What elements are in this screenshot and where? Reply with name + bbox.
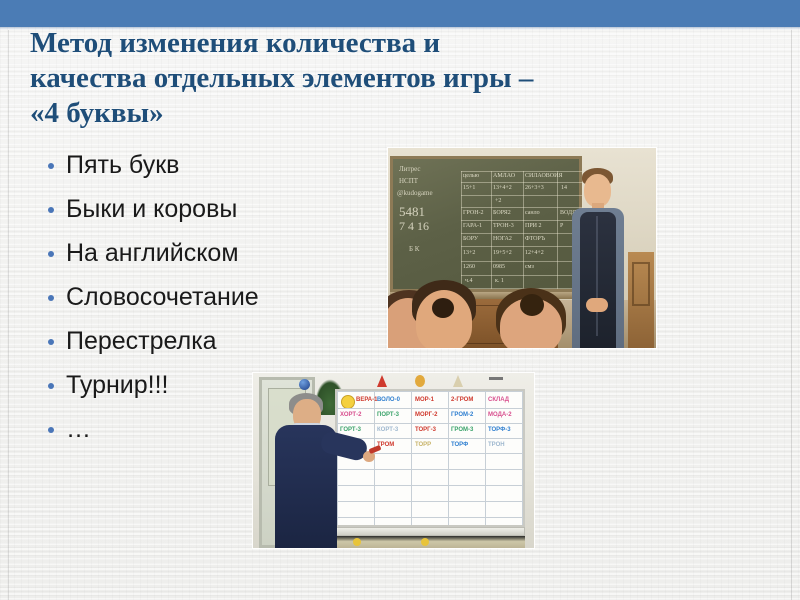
slide-title: Метод изменения количества и качества от… (30, 26, 760, 131)
yellow-dot-icon (421, 538, 429, 546)
wall-strip (335, 536, 525, 548)
list-item: Перестрелка (44, 319, 374, 363)
student-hair-bun (520, 294, 544, 316)
whiteboard-cell: ХОРТ-2 (340, 412, 361, 419)
whiteboard-marker-tray (335, 527, 525, 536)
blackboard: Литрес НСПТ @kudogame 5481 7 4 16 Б К (390, 156, 582, 292)
yellow-dot-icon (353, 538, 361, 546)
classroom-chair (628, 252, 654, 348)
teacher-vest (580, 212, 616, 348)
list-item: Пять букв (44, 143, 374, 187)
slide-title-line-1: Метод изменения количества и (30, 26, 760, 61)
blackboard-cell: БОРЯ2 (493, 210, 511, 217)
whiteboard-cell: МОДА-2 (488, 412, 512, 419)
blackboard-cell: 15+1 (463, 185, 475, 192)
whiteboard-cell: ТОРГ-3 (415, 427, 436, 434)
whiteboard-cell: ТРОН (488, 442, 505, 449)
whiteboard-cell: КОРТ-3 (377, 427, 398, 434)
blackboard-cell: ч.4 (465, 278, 473, 285)
slide-title-line-2: качества отдельных элементов игры – (30, 61, 760, 96)
frame-line-left (8, 30, 9, 600)
accent-top-bar (0, 0, 800, 27)
blackboard-header-cell: целью (463, 173, 479, 180)
blackboard-cell: ГРОН-2 (463, 210, 484, 217)
blackboard-header-cell: СИЛАОВОИЯ (525, 173, 562, 180)
whiteboard-cell: ГРОМ-2 (451, 412, 473, 419)
whiteboard-cell: МОРГ-2 (415, 412, 437, 419)
whiteboard-tournament-photo: ВЕРА-1 ВОЛО-0 МОР-1 2-ГРОМ СКЛАД ХОРТ-2 … (253, 373, 534, 548)
blackboard-note: Б К (409, 245, 419, 254)
whiteboard-cell: ТОРФ-3 (488, 427, 511, 434)
classroom-scene: Литрес НСПТ @kudogame 5481 7 4 16 Б К (388, 148, 656, 348)
blackboard-cell: к. 1 (495, 278, 504, 285)
blackboard-note: 5481 (399, 207, 425, 216)
presentation-slide: Метод изменения количества и качества от… (0, 0, 800, 600)
blackboard-cell: +2 (495, 198, 501, 205)
blackboard-cell: санло (525, 210, 540, 217)
frame-line-right (791, 30, 792, 600)
whiteboard-cell: ГОРТ-3 (340, 427, 361, 434)
blackboard-cell: ФТОРЪ (525, 236, 545, 243)
blackboard-cell: 1260 (463, 264, 475, 271)
teacher-hands (586, 298, 608, 312)
blackboard-cell: ГАРА-1 (463, 223, 482, 230)
student-hair-bun (432, 298, 454, 318)
whiteboard-cell: ТОРФ (451, 442, 468, 449)
blackboard-cell: 26+3+3 (525, 185, 544, 192)
blackboard-table: целью АМЛАО СИЛАОВОИЯ 15+1 13+4+2 26+3+3… (461, 171, 583, 289)
holiday-garland (371, 375, 521, 389)
classroom-blackboard-photo: Литрес НСПТ @kudogame 5481 7 4 16 Б К (388, 148, 656, 348)
blackboard-cell: Р (560, 223, 563, 230)
blackboard-cell: 14 (561, 185, 567, 192)
list-item: Быки и коровы (44, 187, 374, 231)
blackboard-note: 7 4 16 (399, 222, 429, 231)
slide-title-line-3: «4 буквы» (30, 96, 760, 131)
blackboard-note: @kudogame (397, 189, 433, 198)
blackboard-cell: 13+4+2 (493, 185, 512, 192)
whiteboard-cell: МОР-1 (415, 397, 434, 404)
blackboard-cell: БОРУ (463, 236, 478, 243)
blackboard-cell: НОГА2 (493, 236, 512, 243)
blue-ball-decoration (299, 379, 310, 390)
whiteboard-cell: ВЕРА-1 (356, 397, 377, 404)
blackboard-cell: 13+2 (463, 250, 475, 257)
blackboard-cell: смз (525, 264, 534, 271)
blackboard-cell: 0985 (493, 264, 505, 271)
list-item: На английском (44, 231, 374, 275)
whiteboard-cell: ТОРР (415, 442, 431, 449)
smiley-face-icon (341, 395, 355, 409)
whiteboard-cell: 2-ГРОМ (451, 397, 473, 404)
blackboard-cell: ТРОН-3 (493, 223, 514, 230)
blackboard-note: Литрес (399, 165, 421, 174)
blackboard-header-cell: АМЛАО (493, 173, 515, 180)
blackboard-cell: ПРИ 2 (525, 223, 542, 230)
blackboard-cell: 19+5+2 (493, 250, 512, 257)
whiteboard-cell: ПОРТ-3 (377, 412, 399, 419)
list-item: Словосочетание (44, 275, 374, 319)
whiteboard-cell: ВОЛО-0 (377, 397, 400, 404)
whiteboard-cell: СКЛАД (488, 397, 509, 404)
blackboard-note: НСПТ (399, 177, 418, 186)
blackboard-cell: 12+4+2 (525, 250, 544, 257)
whiteboard-cell: ГРОМ-3 (451, 427, 473, 434)
